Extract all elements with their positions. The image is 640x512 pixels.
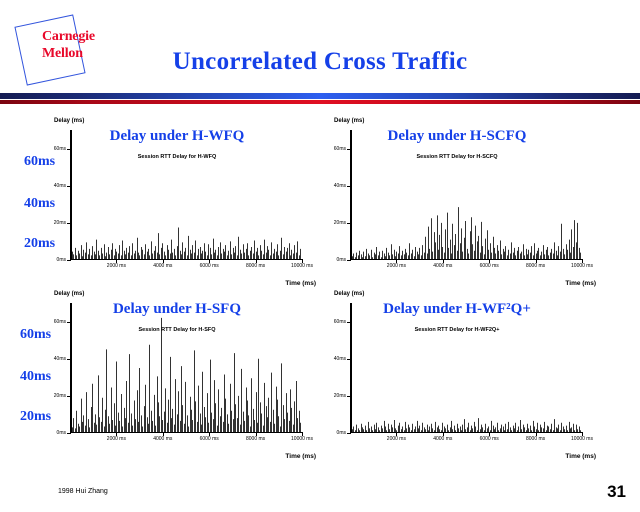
x-tick-label: 10000 ms — [291, 436, 313, 442]
logo-line-1: Carnegie — [42, 28, 95, 45]
x-tick-label: 4000 ms — [153, 263, 172, 269]
x-tick-label: 2000 ms — [387, 263, 406, 269]
x-axis-title: Time (ms) — [565, 453, 596, 460]
plot-area: 0ms20ms40ms60ms 2000 ms4000 ms6000 ms800… — [70, 303, 302, 433]
x-tick-label: 8000 ms — [526, 263, 545, 269]
overlay-axis-label: 20ms — [24, 236, 55, 252]
chart-delay-h-scfq: Delay (ms) Delay under H-SCFQ Session RT… — [312, 112, 602, 287]
x-tick-label: 8000 ms — [246, 436, 265, 442]
divider-blue-bar — [0, 93, 640, 99]
overlay-axis-label: 20ms — [20, 409, 51, 425]
spike-series — [352, 303, 582, 433]
impulse-plot — [72, 303, 302, 433]
divider-red-bar — [0, 100, 640, 104]
overlay-axis-label: 60ms — [24, 154, 55, 170]
x-tick-label: 10000 ms — [571, 263, 593, 269]
chart-delay-h-wf2q-plus: Delay (ms) Delay under H-WF²Q+ Session R… — [312, 285, 602, 460]
x-tick-label: 6000 ms — [480, 263, 499, 269]
impulse-plot — [72, 130, 302, 260]
overlay-axis-label: 40ms — [20, 369, 51, 385]
x-tick-label: 10000 ms — [291, 263, 313, 269]
spike-series — [72, 303, 302, 433]
plot-area: 0ms20ms40ms60ms 2000 ms4000 ms6000 ms800… — [350, 130, 582, 260]
impulse-plot — [352, 130, 582, 260]
x-tick-label: 4000 ms — [433, 263, 452, 269]
x-tick-label: 8000 ms — [246, 263, 265, 269]
plot-area: 0ms20ms40ms60ms 2000 ms4000 ms6000 ms800… — [350, 303, 582, 433]
x-tick-label: 4000 ms — [153, 436, 172, 442]
x-tick-label: 2000 ms — [107, 436, 126, 442]
overlay-labels: 60ms40ms20ms — [32, 285, 92, 460]
slide-number: 31 — [607, 482, 626, 502]
impulse-plot — [352, 303, 582, 433]
x-tick-label: 2000 ms — [107, 263, 126, 269]
page-title: Uncorrelated Cross Traffic — [0, 48, 640, 76]
overlay-labels — [312, 285, 372, 460]
x-tick-label: 6000 ms — [200, 263, 219, 269]
chart-delay-h-wfq: Delay (ms) Delay under H-WFQ Session RTT… — [32, 112, 322, 287]
plot-area: 0ms20ms40ms60ms 2000 ms4000 ms6000 ms800… — [70, 130, 302, 260]
x-tick-label: 4000 ms — [433, 436, 452, 442]
divider — [0, 93, 640, 104]
overlay-axis-label: 40ms — [24, 196, 55, 212]
spike-series — [72, 130, 302, 260]
overlay-axis-label: 60ms — [20, 327, 51, 343]
x-tick-label: 6000 ms — [480, 436, 499, 442]
overlay-labels: 60ms40ms20ms — [32, 112, 92, 287]
x-tick-label: 10000 ms — [571, 436, 593, 442]
x-tick-label: 8000 ms — [526, 436, 545, 442]
x-tick-label: 6000 ms — [200, 436, 219, 442]
x-tick-label: 2000 ms — [387, 436, 406, 442]
footer-credit: 1998 Hui Zhang — [58, 488, 108, 495]
spike-series — [352, 130, 582, 260]
chart-delay-h-sfq: Delay (ms) Delay under H-SFQ Session RTT… — [32, 285, 322, 460]
overlay-labels — [312, 112, 372, 287]
